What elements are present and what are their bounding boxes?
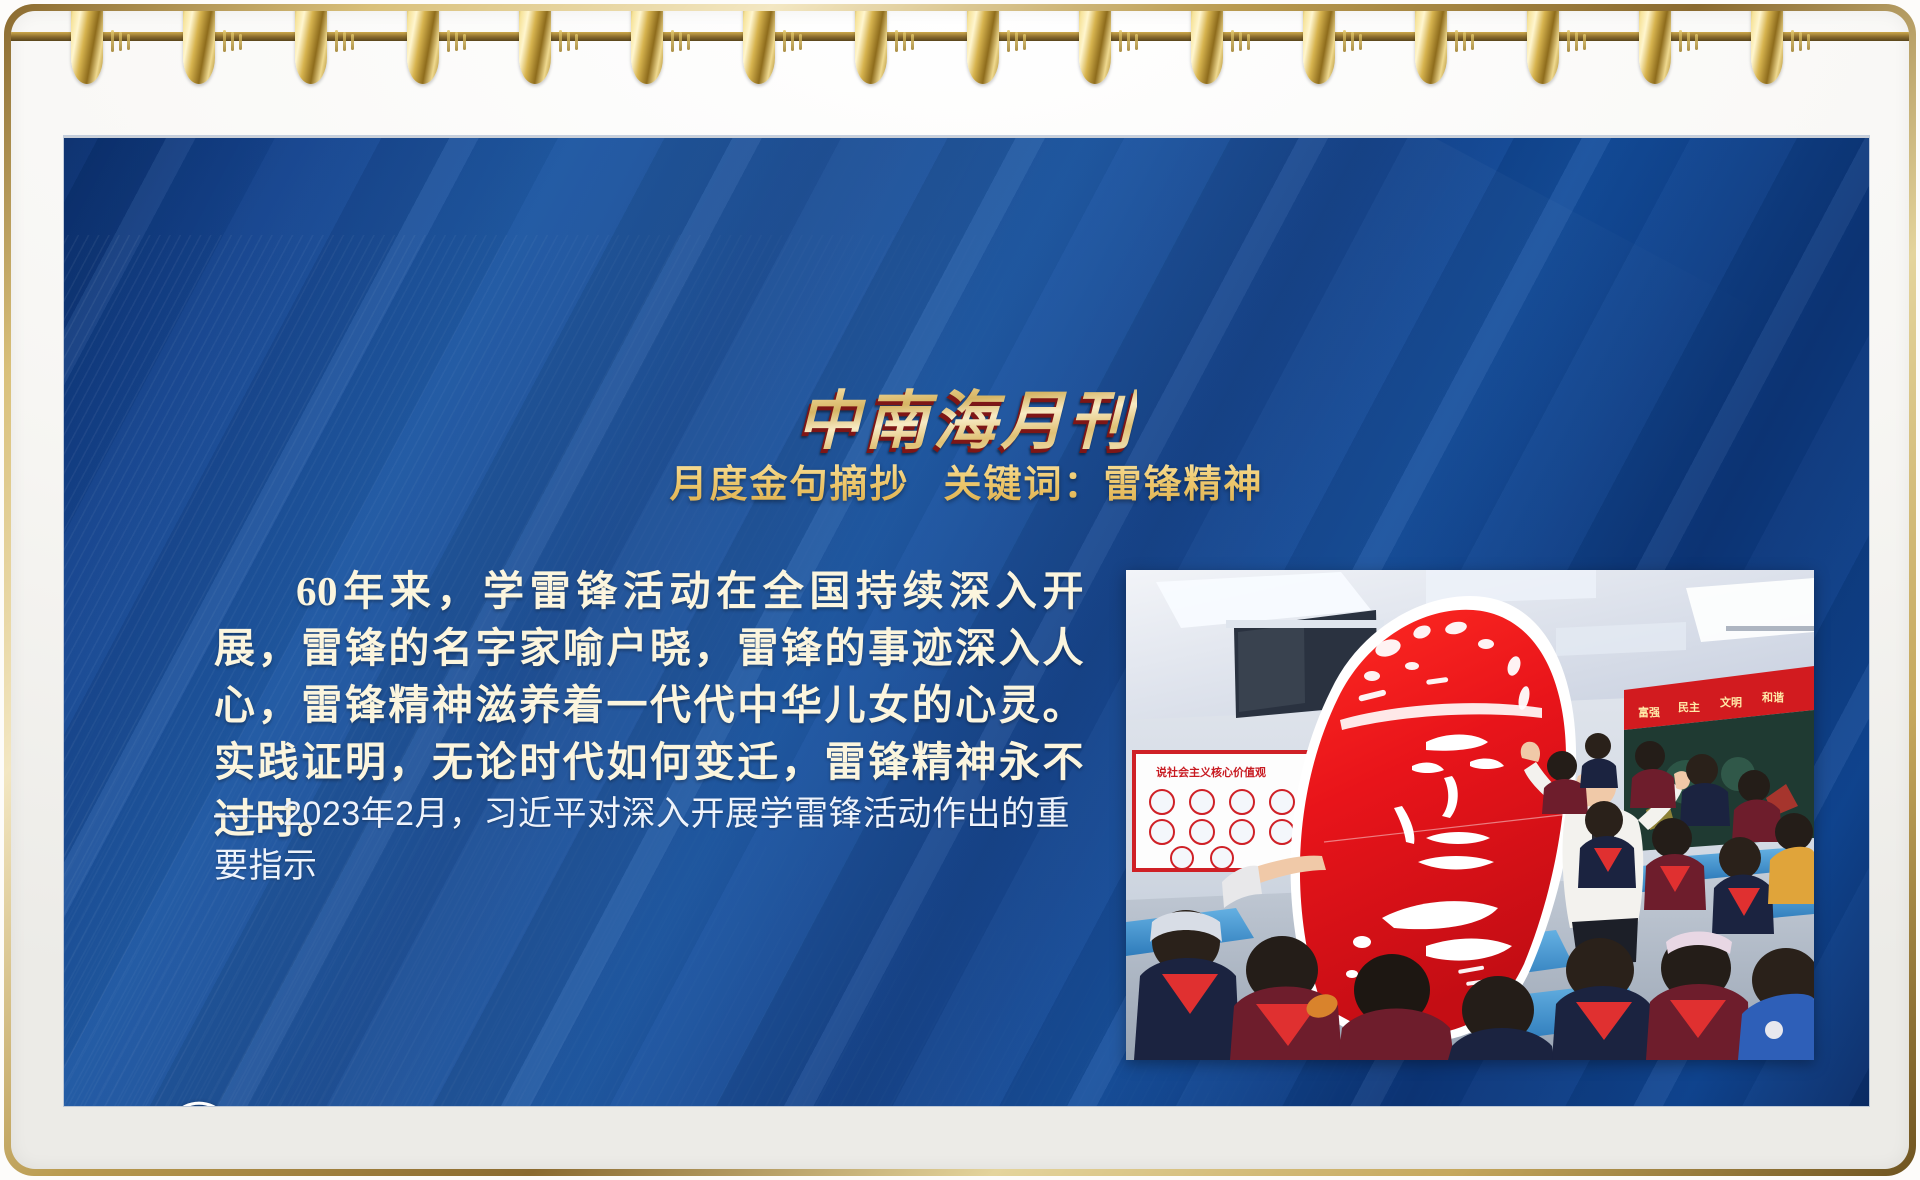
- classroom-photo-illustration: 富强民主 文明和谐 说社会主义核心价值观: [1126, 570, 1814, 1060]
- spiral-ring-icon: [65, 11, 109, 92]
- spiral-ring-icon: [737, 11, 781, 92]
- svg-text:民主: 民主: [1678, 700, 1700, 714]
- svg-text:说社会主义核心价值观: 说社会主义核心价值观: [1156, 765, 1266, 779]
- svg-text:富强: 富强: [1638, 705, 1660, 719]
- svg-text:文明: 文明: [1720, 695, 1742, 709]
- notebook-page: 中南海月刊 月度金句摘抄关键词：雷锋精神 60年来，学雷锋活动在全国持续深入开展…: [0, 0, 1920, 1180]
- tap-hand-icon[interactable]: [162, 1096, 248, 1106]
- page-title: 中南海月刊: [797, 370, 1137, 462]
- spiral-ring-icon: [1297, 11, 1341, 92]
- classroom-photo: 富强民主 文明和谐 说社会主义核心价值观: [1126, 570, 1814, 1060]
- subtitle-row: 月度金句摘抄关键词：雷锋精神: [64, 453, 1869, 508]
- title-block: 中南海月刊: [64, 370, 1869, 462]
- spiral-ring-icon: [961, 11, 1005, 92]
- spiral-ring-icon: [1745, 11, 1789, 92]
- spiral-ring-icon: [401, 11, 445, 92]
- binding-bar: [11, 32, 1909, 41]
- spiral-ring-icon: [1073, 11, 1117, 92]
- spiral-ring-icon: [1185, 11, 1229, 92]
- gold-frame-border: 中南海月刊 月度金句摘抄关键词：雷锋精神 60年来，学雷锋活动在全国持续深入开展…: [4, 4, 1916, 1176]
- subtitle-left: 月度金句摘抄: [669, 464, 909, 506]
- spiral-ring-icon: [1521, 11, 1565, 92]
- slide-canvas: 中南海月刊 月度金句摘抄关键词：雷锋精神 60年来，学雷锋活动在全国持续深入开展…: [64, 136, 1869, 1106]
- spiral-ring-icon: [513, 11, 557, 92]
- spiral-binding: [11, 11, 1909, 124]
- subtitle-right: 关键词：雷锋精神: [944, 464, 1264, 506]
- spiral-ring-icon: [849, 11, 893, 92]
- paper-page: 中南海月刊 月度金句摘抄关键词：雷锋精神 60年来，学雷锋活动在全国持续深入开展…: [11, 11, 1909, 1169]
- spiral-ring-icon: [625, 11, 669, 92]
- attribution-text: ——2023年2月，习近平对深入开展学雷锋活动作出的重要指示: [214, 788, 1094, 892]
- spiral-ring-icon: [1409, 11, 1453, 92]
- svg-text:和谐: 和谐: [1762, 690, 1784, 704]
- spiral-ring-icon: [289, 11, 333, 92]
- spiral-ring-icon: [1633, 11, 1677, 92]
- spiral-ring-icon: [177, 11, 221, 92]
